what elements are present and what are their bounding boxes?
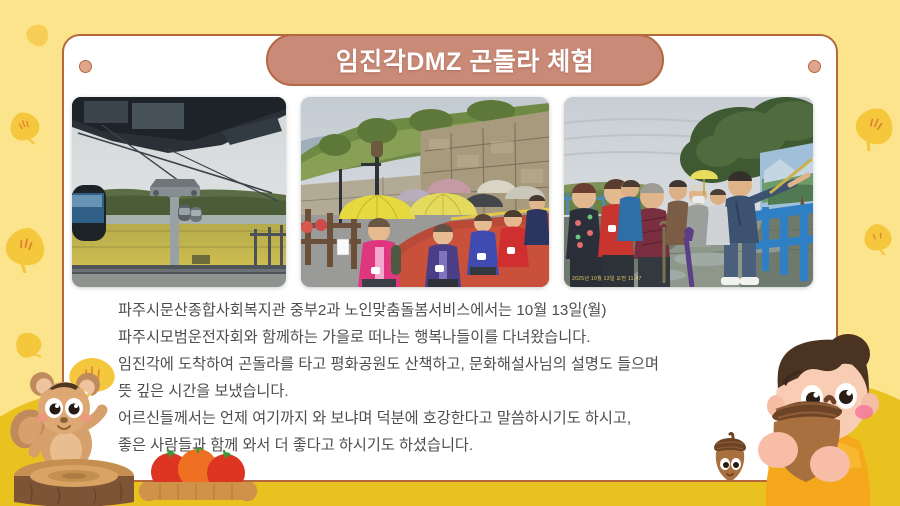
ginkgo-leaf-icon bbox=[852, 105, 896, 151]
description-line: 파주시모범운전자회와 함께하는 가을로 떠나는 행복나들이를 다녀왔습니다. bbox=[118, 324, 778, 351]
photo-umbrella-walk[interactable] bbox=[301, 97, 549, 287]
ginkgo-leaf-icon bbox=[2, 225, 48, 273]
photo-guide-explanation[interactable]: 2025년 10월 13일 오전 11:47 bbox=[564, 97, 813, 287]
description-line: 좋은 사람들과 함께 와서 더 좋다고 하시기도 하셨습니다. bbox=[118, 432, 778, 459]
photo-timestamp: 2025년 10월 13일 오전 11:47 bbox=[572, 275, 642, 282]
description-line: 뜻 깊은 시간을 보냈습니다. bbox=[118, 378, 778, 405]
corner-dot-right bbox=[808, 60, 821, 73]
description-line: 파주시문산종합사회복지관 중부2과 노인맞춤돌봄서비스에서는 10월 13일(월… bbox=[118, 297, 778, 324]
description-line: 임진각에 도착하여 곤돌라를 타고 평화공원도 산책하고, 문화해설사님의 설명… bbox=[118, 351, 778, 378]
title-banner: 임진각DMZ 곤돌라 체험 bbox=[266, 34, 664, 86]
ginkgo-leaf-icon bbox=[24, 22, 50, 50]
ginkgo-leaf-icon bbox=[14, 330, 44, 362]
photo-gondola-station[interactable] bbox=[72, 97, 286, 287]
page-title: 임진각DMZ 곤돌라 체험 bbox=[336, 42, 595, 78]
ginkgo-leaf-icon bbox=[862, 222, 894, 256]
description-text: 파주시문산종합사회복지관 중부2과 노인맞춤돌봄서비스에서는 10월 13일(월… bbox=[118, 297, 778, 459]
photo-gallery: 2025년 10월 13일 오전 11:47 bbox=[72, 97, 828, 287]
description-line: 어르신들께서는 언제 여기까지 와 보냐며 덕분에 호강한다고 말씀하시기도 하… bbox=[118, 405, 778, 432]
corner-dot-left bbox=[79, 60, 92, 73]
ginkgo-leaf-icon bbox=[8, 110, 42, 146]
